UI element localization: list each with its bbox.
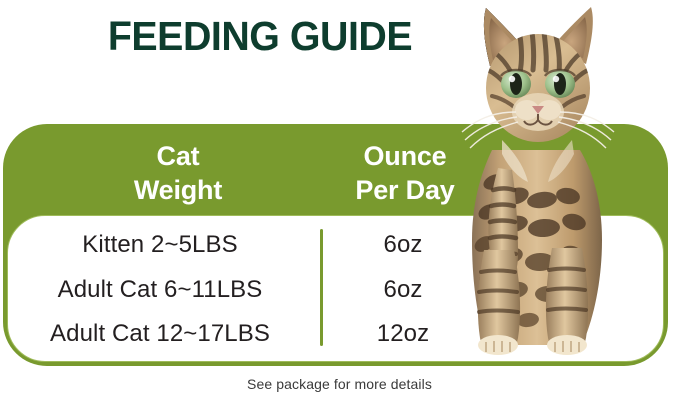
footer-note: See package for more details bbox=[0, 376, 679, 392]
cell-ounce-per-day: 6oz bbox=[333, 226, 473, 264]
column-header-cat-weight-line2: Weight bbox=[98, 173, 258, 207]
feeding-guide-panel: FEEDING GUIDE Cat Weight Ounce Per Day K… bbox=[0, 0, 679, 403]
cell-ounce-per-day: 6oz bbox=[333, 271, 473, 309]
column-header-cat-weight: Cat Weight bbox=[98, 139, 258, 207]
cell-cat-weight: Kitten 2~5LBS bbox=[10, 226, 310, 264]
column-header-cat-weight-line1: Cat bbox=[157, 141, 200, 171]
cell-cat-weight: Adult Cat 6~11LBS bbox=[10, 271, 310, 309]
column-header-ounce-per-day: Ounce Per Day bbox=[325, 139, 485, 207]
column-divider bbox=[320, 229, 323, 346]
column-header-ounce-per-day-line2: Per Day bbox=[325, 173, 485, 207]
cell-cat-weight: Adult Cat 12~17LBS bbox=[10, 315, 310, 353]
cell-ounce-per-day: 12oz bbox=[333, 315, 473, 353]
column-header-ounce-per-day-line1: Ounce bbox=[363, 141, 446, 171]
page-title: FEEDING GUIDE bbox=[10, 16, 509, 57]
